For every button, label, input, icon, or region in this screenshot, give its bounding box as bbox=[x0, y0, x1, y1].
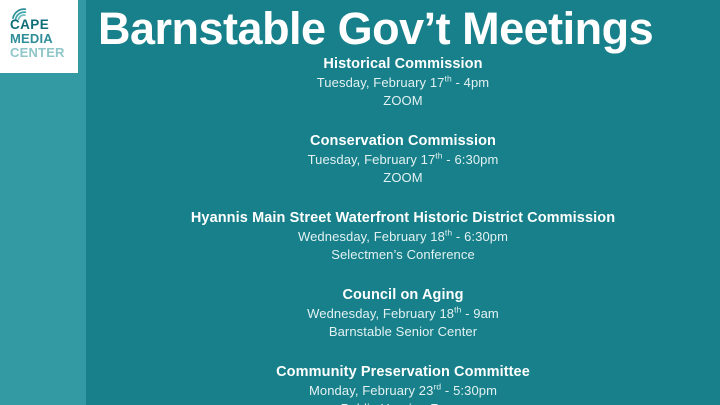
meeting-name: Hyannis Main Street Waterfront Historic … bbox=[86, 209, 720, 228]
list-item: Conservation Commission Tuesday, Februar… bbox=[86, 132, 720, 187]
meeting-datetime: Monday, February 23rd - 5:30pm bbox=[86, 382, 720, 400]
meeting-datetime: Wednesday, February 18th - 9am bbox=[86, 305, 720, 323]
list-item: Historical Commission Tuesday, February … bbox=[86, 55, 720, 110]
page-title: Barnstable Gov’t Meetings bbox=[98, 4, 710, 54]
meeting-name: Council on Aging bbox=[86, 286, 720, 305]
meeting-date-text: Wednesday, February 18 bbox=[307, 306, 454, 321]
meeting-date-text: Monday, February 23 bbox=[309, 383, 434, 398]
meeting-name: Conservation Commission bbox=[86, 132, 720, 151]
meeting-date-text: Tuesday, February 17 bbox=[308, 152, 436, 167]
meeting-time-text: - 5:30pm bbox=[441, 383, 497, 398]
meeting-datetime: Tuesday, February 17th - 4pm bbox=[86, 74, 720, 92]
cape-media-center-logo: CAPE MEDIA CENTER bbox=[0, 0, 78, 73]
logo-contents: CAPE MEDIA CENTER bbox=[9, 7, 71, 65]
meeting-location: Selectmen’s Conference bbox=[86, 246, 720, 264]
meeting-date-ordinal: th bbox=[444, 74, 451, 84]
list-item: Community Preservation Committee Monday,… bbox=[86, 363, 720, 405]
list-item: Council on Aging Wednesday, February 18t… bbox=[86, 286, 720, 341]
meeting-datetime: Wednesday, February 18th - 6:30pm bbox=[86, 228, 720, 246]
meeting-date-text: Wednesday, February 18 bbox=[298, 229, 445, 244]
meeting-time-text: - 6:30pm bbox=[443, 152, 499, 167]
meeting-location: ZOOM bbox=[86, 92, 720, 110]
logo-text-media: MEDIA bbox=[10, 32, 53, 46]
meeting-name: Historical Commission bbox=[86, 55, 720, 74]
meeting-location: ZOOM bbox=[86, 169, 720, 187]
meeting-time-text: - 9am bbox=[461, 306, 498, 321]
meeting-date-ordinal: th bbox=[435, 151, 442, 161]
meeting-time-text: - 6:30pm bbox=[452, 229, 508, 244]
logo-text-cape: CAPE bbox=[10, 18, 49, 32]
meeting-location: Public Hearing Room bbox=[86, 400, 720, 405]
meeting-location: Barnstable Senior Center bbox=[86, 323, 720, 341]
meeting-datetime: Tuesday, February 17th - 6:30pm bbox=[86, 151, 720, 169]
list-item: Hyannis Main Street Waterfront Historic … bbox=[86, 209, 720, 264]
meeting-list: Historical Commission Tuesday, February … bbox=[86, 55, 720, 405]
logo-text-center: CENTER bbox=[10, 46, 65, 60]
meeting-time-text: - 4pm bbox=[452, 75, 489, 90]
meeting-name: Community Preservation Committee bbox=[86, 363, 720, 382]
slide-canvas: CAPE MEDIA CENTER Barnstable Gov’t Meeti… bbox=[0, 0, 720, 405]
meeting-date-text: Tuesday, February 17 bbox=[317, 75, 445, 90]
